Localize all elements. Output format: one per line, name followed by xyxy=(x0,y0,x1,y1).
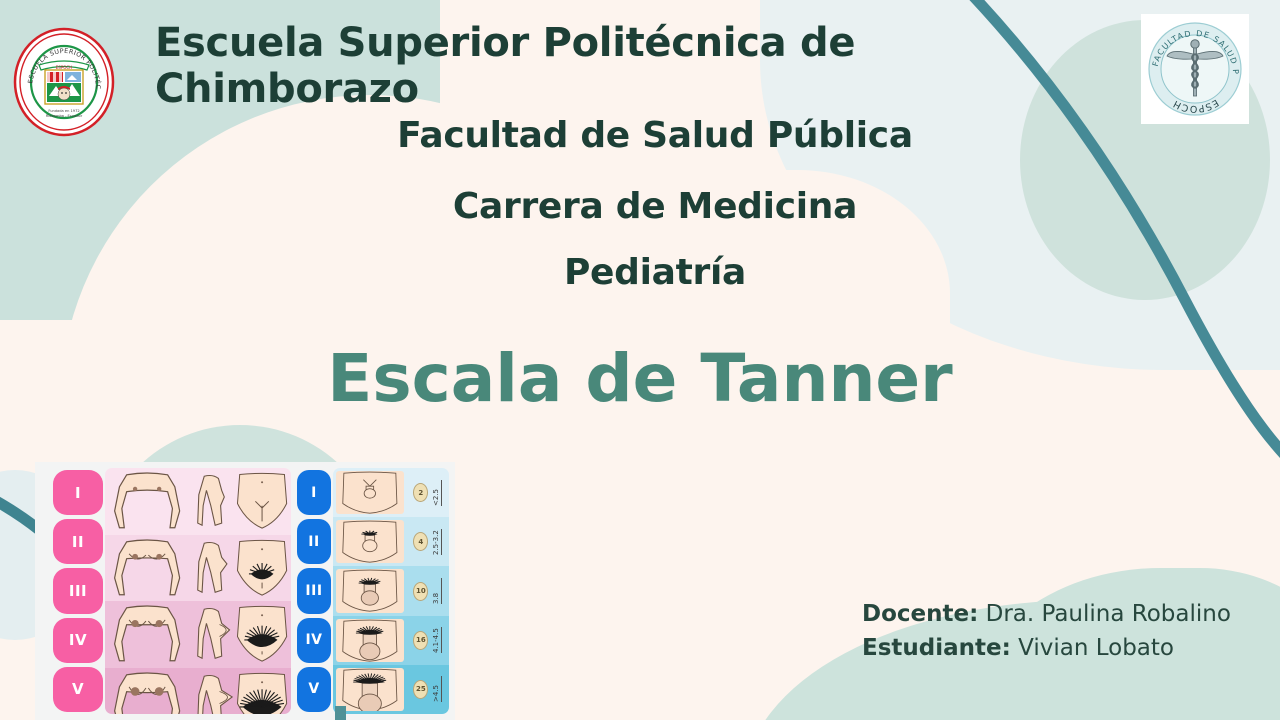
tanner-male-row: 2<2.5 xyxy=(333,468,449,517)
tanner-female-panel: I II III IV V xyxy=(53,468,291,714)
tanner-male-row: 42.5-3.2 xyxy=(333,517,449,566)
credit-estudiante-label: Estudiante: xyxy=(862,635,1011,661)
tanner-female-breast-profile-cell xyxy=(189,668,233,714)
tanner-female-row xyxy=(105,668,291,714)
slide-canvas: ESCUELA SUPERIOR POLITÉCNICA DE CHIMBORA… xyxy=(0,0,1280,720)
tanner-male-stage-badge: IV xyxy=(297,618,331,663)
credit-estudiante: Estudiante: Vivian Lobato xyxy=(862,631,1280,665)
tanner-male-row: 25>4.5 xyxy=(333,665,449,714)
subtitle-subject: Pediatría xyxy=(155,252,1155,293)
tanner-male-measurements: 42.5-3.2 xyxy=(407,517,449,566)
tanner-female-pubic-hair-cell xyxy=(233,601,291,668)
espoch-seal-logo: ESCUELA SUPERIOR POLITÉCNICA DE CHIMBORA… xyxy=(12,26,116,138)
tanner-female-stage-badges: I II III IV V xyxy=(53,468,105,714)
tanner-female-row xyxy=(105,535,291,602)
tanner-male-genital-cell xyxy=(336,471,404,514)
tanner-female-rows xyxy=(105,468,291,714)
tanner-male-stage-badge: I xyxy=(297,470,331,515)
subtitle-faculty: Facultad de Salud Pública xyxy=(155,115,1155,156)
tanner-female-stage-badge: IV xyxy=(53,618,103,663)
tanner-female-breast-front-cell xyxy=(105,668,189,714)
tanner-scale-chart: I II III IV V I II III IV V 2<2.542.5-3.… xyxy=(35,462,455,720)
testicular-length-value: 4.1-4.5 xyxy=(432,627,442,653)
credit-estudiante-name: Vivian Lobato xyxy=(1018,635,1174,661)
pubic-hair-illustration xyxy=(233,468,291,535)
tanner-male-measurements: 164.1-4.5 xyxy=(407,616,449,665)
tanner-female-pubic-hair-cell xyxy=(233,668,291,714)
testicular-volume-value: 2 xyxy=(413,483,428,502)
breast-profile-illustration xyxy=(189,535,233,602)
male-genital-illustration xyxy=(336,520,404,563)
tanner-male-row: 103.8 xyxy=(333,566,449,615)
subtitle-career: Carrera de Medicina xyxy=(155,186,1155,227)
credits-block: Docente: Dra. Paulina Robalino Estudiant… xyxy=(862,597,1280,665)
breast-front-illustration xyxy=(105,668,189,714)
tanner-male-genital-cell xyxy=(336,668,404,711)
tanner-male-measurements: 103.8 xyxy=(407,566,449,615)
credit-docente-name: Dra. Paulina Robalino xyxy=(986,601,1231,627)
tanner-female-breast-profile-cell xyxy=(189,468,233,535)
testicular-length-value: 3.8 xyxy=(432,578,442,604)
tanner-male-stage-badges: I II III IV V xyxy=(297,468,333,714)
tanner-male-measurements: 2<2.5 xyxy=(407,468,449,517)
breast-front-illustration xyxy=(105,535,189,602)
tanner-female-breast-front-cell xyxy=(105,601,189,668)
male-genital-illustration xyxy=(336,619,404,662)
testicular-volume-value: 4 xyxy=(413,532,428,551)
tanner-male-measurements: 25>4.5 xyxy=(407,665,449,714)
tanner-male-stage-badge: III xyxy=(297,568,331,613)
testicular-length-value: >4.5 xyxy=(432,676,442,702)
breast-profile-illustration xyxy=(189,668,233,714)
breast-profile-illustration xyxy=(189,468,233,535)
tanner-chart-stand xyxy=(335,706,346,720)
svg-text:Fundada en 1972: Fundada en 1972 xyxy=(48,109,79,113)
svg-text:Riobamba - Ecuador: Riobamba - Ecuador xyxy=(46,114,83,118)
credit-docente: Docente: Dra. Paulina Robalino xyxy=(862,597,1280,631)
tanner-female-row xyxy=(105,601,291,668)
male-genital-illustration xyxy=(336,569,404,612)
credit-docente-label: Docente: xyxy=(862,601,978,627)
pubic-hair-illustration xyxy=(233,668,291,714)
tanner-female-stage-badge: V xyxy=(53,667,103,712)
tanner-male-stage-badge: II xyxy=(297,519,331,564)
pubic-hair-illustration xyxy=(233,535,291,602)
tanner-female-breast-front-cell xyxy=(105,468,189,535)
main-title: Escala de Tanner xyxy=(140,340,1140,417)
male-genital-illustration xyxy=(336,471,404,514)
tanner-female-breast-front-cell xyxy=(105,535,189,602)
page-title-university: Escuela Superior Politécnica de Chimbora… xyxy=(155,20,945,112)
testicular-volume-value: 25 xyxy=(413,680,428,699)
tanner-female-row xyxy=(105,468,291,535)
testicular-volume-value: 16 xyxy=(413,631,428,650)
tanner-female-breast-profile-cell xyxy=(189,601,233,668)
tanner-male-panel: I II III IV V 2<2.542.5-3.2103.8164.1-4.… xyxy=(297,468,449,714)
breast-front-illustration xyxy=(105,468,189,535)
facultad-salud-publica-logo: FACULTAD DE SALUD PUBLICA ESPOCH xyxy=(1141,14,1249,124)
tanner-male-rows: 2<2.542.5-3.2103.8164.1-4.525>4.5 xyxy=(333,468,449,714)
tanner-male-genital-cell xyxy=(336,520,404,563)
tanner-female-breast-profile-cell xyxy=(189,535,233,602)
breast-profile-illustration xyxy=(189,601,233,668)
tanner-male-stage-badge: V xyxy=(297,667,331,712)
tanner-female-pubic-hair-cell xyxy=(233,535,291,602)
svg-text:ESPOCH: ESPOCH xyxy=(56,65,72,70)
male-genital-illustration xyxy=(336,668,404,711)
testicular-length-value: 2.5-3.2 xyxy=(432,529,442,555)
tanner-female-stage-badge: I xyxy=(53,470,103,515)
breast-front-illustration xyxy=(105,601,189,668)
tanner-female-stage-badge: III xyxy=(53,568,103,613)
tanner-male-row: 164.1-4.5 xyxy=(333,616,449,665)
tanner-male-genital-cell xyxy=(336,619,404,662)
tanner-female-stage-badge: II xyxy=(53,519,103,564)
testicular-length-value: <2.5 xyxy=(432,480,442,506)
testicular-volume-value: 10 xyxy=(413,582,428,601)
pubic-hair-illustration xyxy=(233,601,291,668)
tanner-male-genital-cell xyxy=(336,569,404,612)
tanner-female-pubic-hair-cell xyxy=(233,468,291,535)
